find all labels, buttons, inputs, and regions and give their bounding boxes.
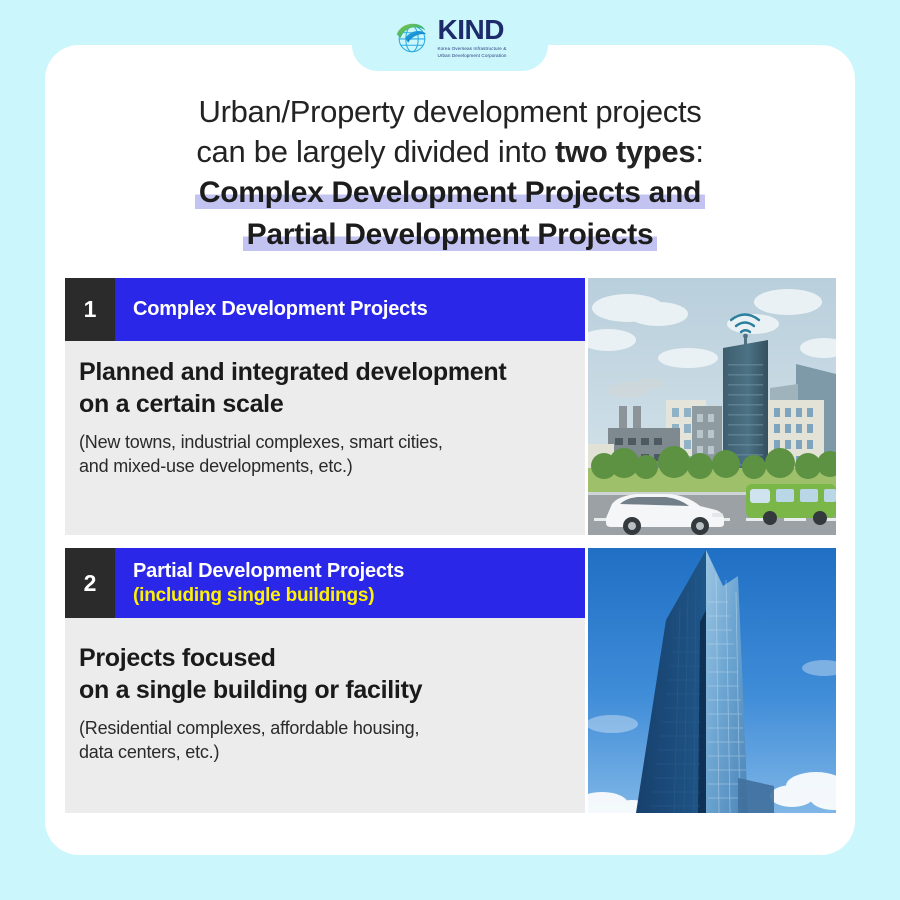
kind-globe-logo-icon [393,19,431,57]
headline-line-3-highlight: Complex Development Projects and [195,176,705,209]
card-1-description: Planned and integrated development on a … [79,356,571,420]
card-2-header: 2 Partial Development Projects (includin… [65,548,585,618]
kind-logo-text: KIND Korea Overseas Infrastructure & Urb… [437,16,506,59]
card-2-body: Projects focused on a single building or… [65,642,585,765]
glass-skyscraper-photo [588,548,836,813]
headline-block: Urban/Property development projects can … [70,92,830,256]
headline-line-4-highlight: Partial Development Projects [243,218,658,251]
infographic-canvas: KIND Korea Overseas Infrastructure & Urb… [0,0,900,900]
smart-city-skyline-photo [588,278,836,535]
headline-line-4: Partial Development Projects [70,214,830,256]
headline-line-2-prefix: can be largely divided into [196,134,555,169]
card-2-examples: (Residential complexes, affordable housi… [79,717,571,765]
kind-wordmark: KIND [437,16,506,44]
card-2-header-text: Partial Development Projects (including … [115,548,585,618]
kind-tagline: Korea Overseas Infrastructure & Urban De… [437,46,506,59]
headline-line-2-suffix: : [695,134,703,169]
card-2-subtitle: (including single buildings) [133,584,585,608]
card-1-number-badge: 1 [65,278,115,341]
card-1-examples: (New towns, industrial complexes, smart … [79,431,571,479]
headline-line-2-bold: two types [555,134,695,169]
card-partial-development-projects: 2 Partial Development Projects (includin… [65,548,836,813]
headline-line-1: Urban/Property development projects [70,92,830,132]
card-1-header: 1 Complex Development Projects [65,278,585,341]
card-2-title: Partial Development Projects [133,559,585,584]
headline-line-3: Complex Development Projects and [70,172,830,214]
card-2-description: Projects focused on a single building or… [79,642,571,706]
headline-line-2: can be largely divided into two types: [70,132,830,172]
card-complex-development-projects: 1 Complex Development Projects Planned a… [65,278,836,535]
card-2-number-badge: 2 [65,548,115,618]
kind-logo: KIND Korea Overseas Infrastructure & Urb… [352,10,548,66]
card-1-title: Complex Development Projects [133,297,585,322]
card-1-body: Planned and integrated development on a … [65,356,585,479]
card-1-header-text: Complex Development Projects [115,278,585,341]
